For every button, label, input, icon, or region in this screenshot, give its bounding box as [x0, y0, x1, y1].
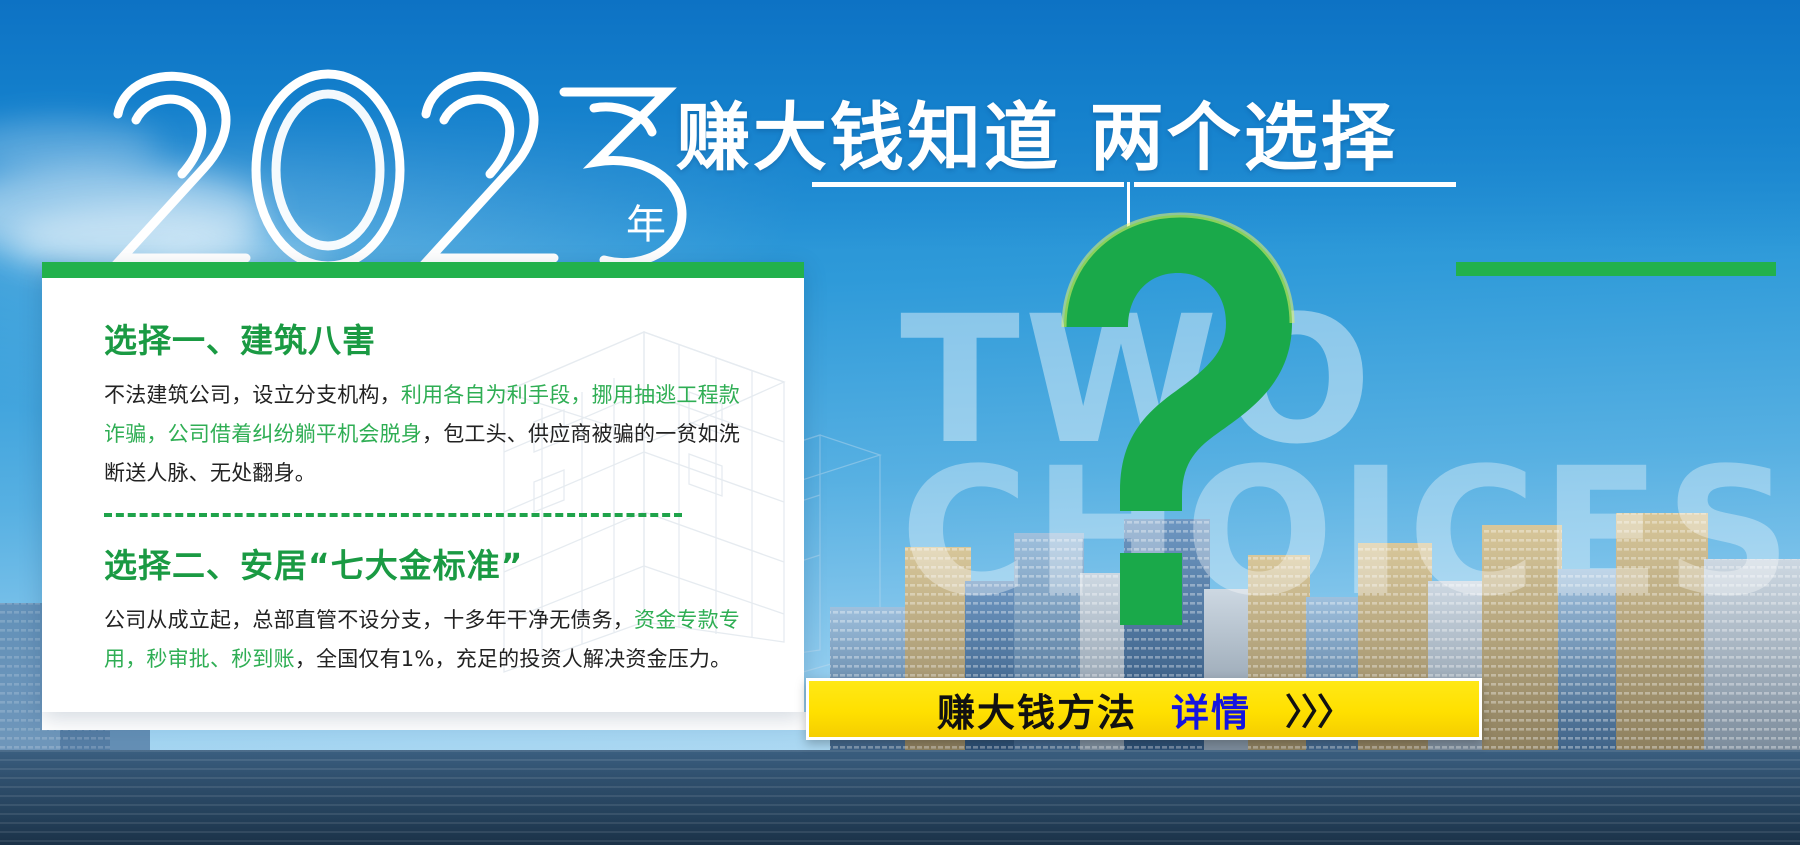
right-accent-bar [1456, 262, 1776, 276]
headline-rule-right [1134, 182, 1456, 187]
waterfront-reflection [0, 750, 1800, 845]
year-2023-graphic [96, 62, 716, 277]
cta-detail-link[interactable]: 详情 [1171, 682, 1251, 737]
headline-rule-left [812, 182, 1124, 187]
section-2-run-1: 公司从成立起，总部直管不设分支，十多年干净无债务， [104, 608, 634, 632]
section-2-body: 公司从成立起，总部直管不设分支，十多年干净无债务，资金专款专用，秒审批、秒到账，… [104, 601, 744, 679]
year-suffix-label: 年 [626, 192, 667, 250]
content-card: 选择一、建筑八害 不法建筑公司，设立分支机构，利用各自为利手段，挪用抽逃工程款诈… [42, 262, 804, 712]
card-content: 选择一、建筑八害 不法建筑公司，设立分支机构，利用各自为利手段，挪用抽逃工程款诈… [104, 314, 744, 679]
section-1-heading: 选择一、建筑八害 [104, 314, 744, 362]
choice-section-1: 选择一、建筑八害 不法建筑公司，设立分支机构，利用各自为利手段，挪用抽逃工程款诈… [104, 314, 744, 493]
section-divider [104, 513, 682, 517]
card-top-accent [42, 262, 804, 278]
choice-section-2: 选择二、安居“七大金标准” 公司从成立起，总部直管不设分支，十多年干净无债务，资… [104, 539, 744, 679]
cta-button[interactable]: 赚大钱方法 详情 〉〉〉 [806, 678, 1482, 740]
section-2-heading: 选择二、安居“七大金标准” [104, 539, 744, 587]
cta-main-label: 赚大钱方法 [937, 682, 1137, 737]
page-title: 赚大钱知道 两个选择 [676, 78, 1398, 185]
section-1-body: 不法建筑公司，设立分支机构，利用各自为利手段，挪用抽逃工程款诈骗，公司借着纠纷躺… [104, 376, 744, 493]
question-mark-icon [1020, 205, 1320, 645]
banner-stage: 年 赚大钱知道 两个选择 TWO CHOICES [0, 0, 1800, 845]
section-1-run-1: 不法建筑公司，设立分支机构， [104, 383, 401, 407]
section-2-run-3: ，全国仅有1%，充足的投资人解决资金压力。 [295, 647, 732, 671]
chevron-right-icon: 〉〉〉 [1285, 683, 1351, 735]
